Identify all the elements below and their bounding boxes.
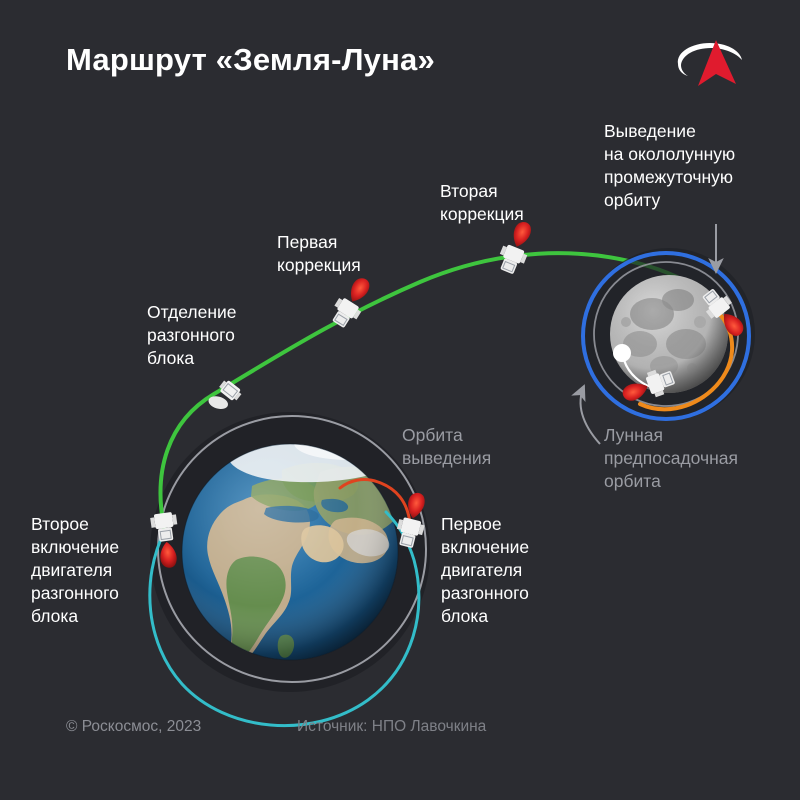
label-correction-1: Первая коррекция [277, 231, 361, 277]
label-launch-orbit: Орбита выведения [402, 424, 491, 470]
spacecraft-correction-2 [495, 218, 539, 277]
roscosmos-logo [672, 36, 748, 92]
label-correction-2: Вторая коррекция [440, 180, 524, 226]
label-engine-burn-2: Второе включение двигателя разгонного бл… [31, 513, 119, 628]
page-title: Маршрут «Земля-Луна» [66, 42, 435, 78]
footer-source: Источник: НПО Лавочкина [297, 718, 486, 736]
label-lunar-insertion: Выведение на окололунную промежуточную о… [604, 120, 735, 212]
infographic-root: Маршрут «Земля-Луна» Выведение на околол… [0, 0, 800, 800]
label-prelanding-orbit: Лунная предпосадочная орбита [604, 424, 738, 493]
label-engine-burn-1: Первое включение двигателя разгонного бл… [441, 513, 529, 628]
label-separation: Отделение разгонного блока [147, 301, 237, 370]
footer-copyright: © Роскосмос, 2023 [66, 718, 201, 736]
landing-site-marker [613, 344, 631, 362]
prelanding-callout-arrow [581, 386, 600, 444]
